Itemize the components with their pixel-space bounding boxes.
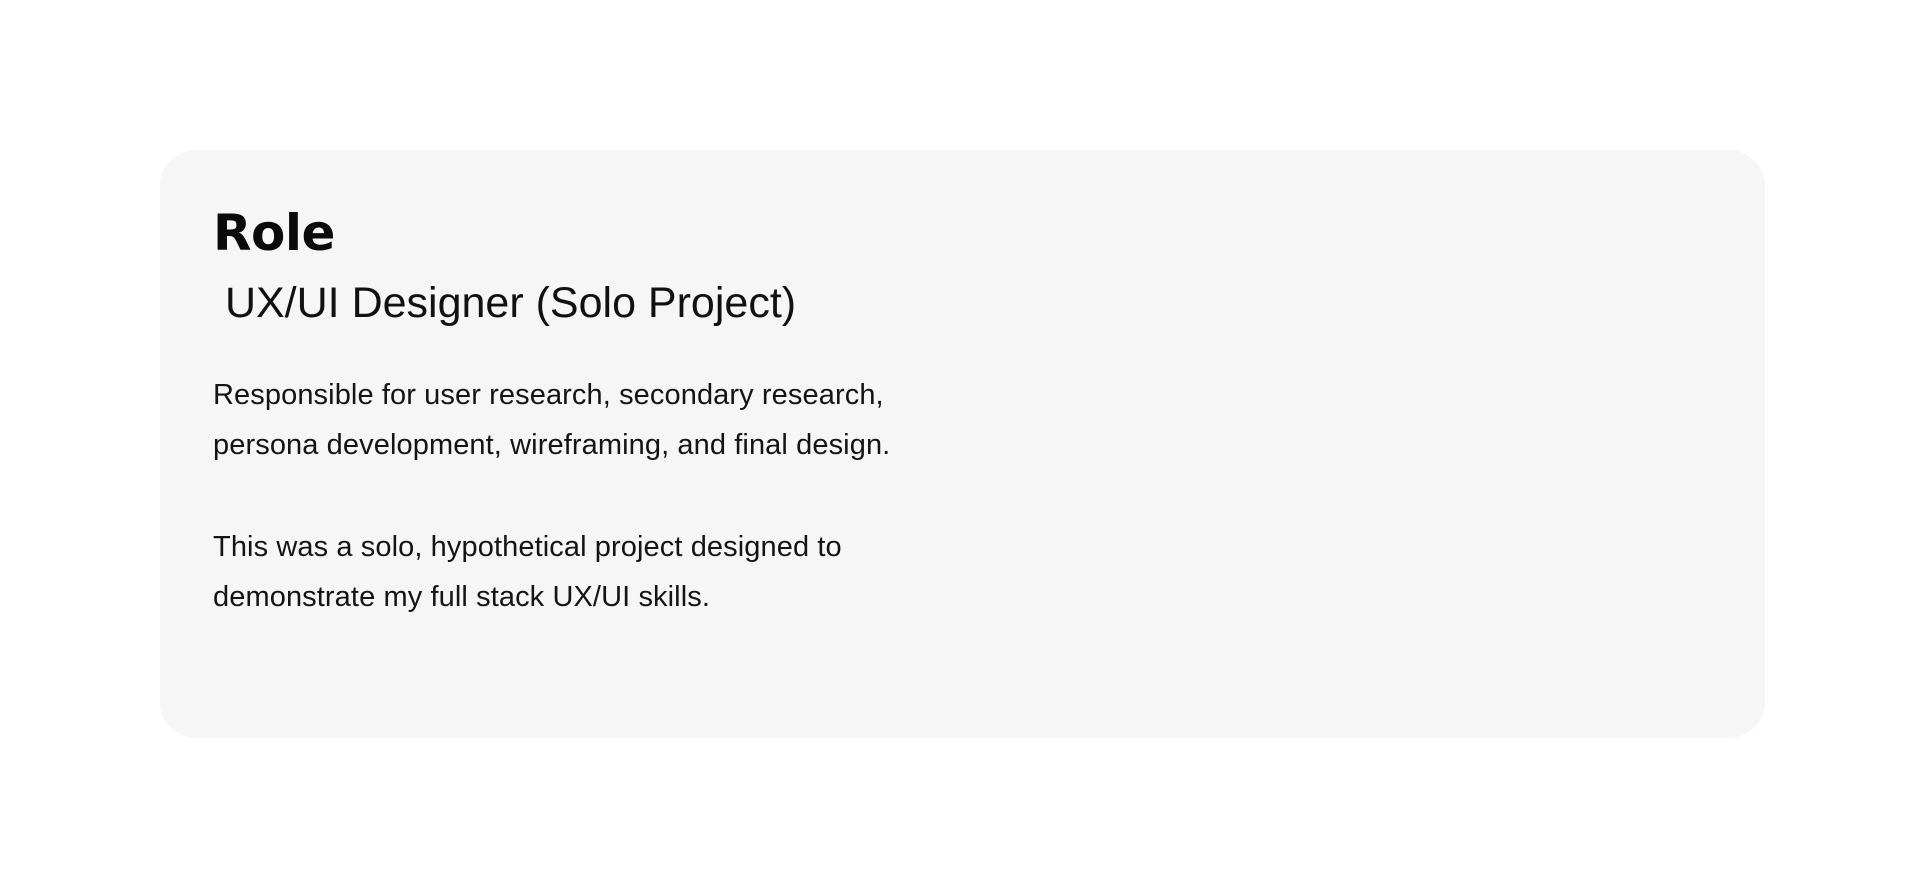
role-subtitle: UX/UI Designer (Solo Project) [213, 274, 1213, 332]
role-card-content: Role UX/UI Designer (Solo Project) Respo… [213, 202, 1213, 622]
role-card: Role UX/UI Designer (Solo Project) Respo… [160, 150, 1765, 738]
role-description-paragraph-2: This was a solo, hypothetical project de… [213, 522, 933, 622]
page-canvas: Role UX/UI Designer (Solo Project) Respo… [0, 0, 1920, 886]
page-title: Role [213, 202, 1213, 264]
role-description-paragraph-1: Responsible for user research, secondary… [213, 370, 933, 470]
